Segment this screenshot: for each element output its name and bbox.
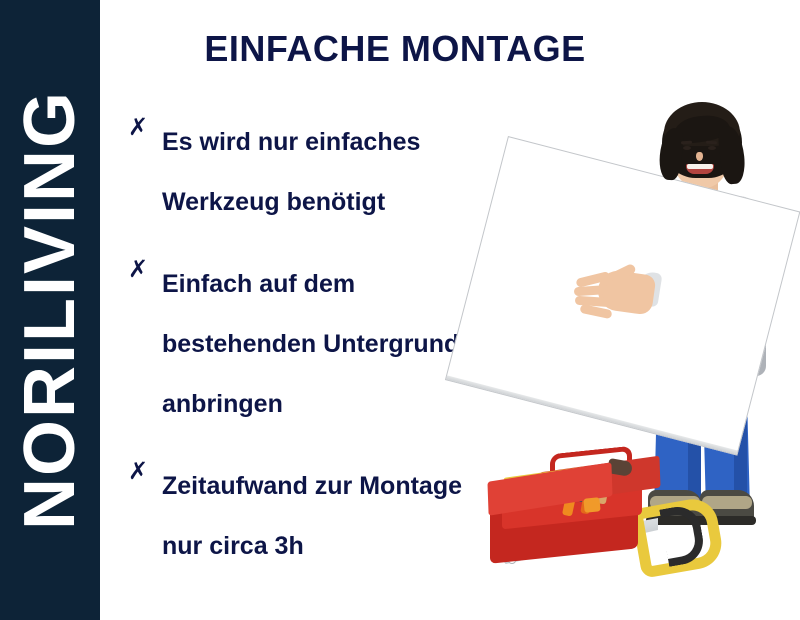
cross-mark-icon: ✗ (128, 254, 152, 284)
tool-knob (583, 497, 600, 513)
cross-mark-icon: ✗ (128, 112, 152, 142)
product-photo (470, 96, 800, 620)
brand-name: NORILIVING (14, 90, 86, 530)
brand-sidebar: NORILIVING (0, 0, 100, 620)
eye-right (708, 146, 716, 150)
nose (696, 152, 703, 161)
cross-mark-icon: ✗ (128, 456, 152, 486)
promo-banner: NORILIVING EINFACHE MONTAGE ✗ Es wird nu… (0, 0, 800, 620)
smiling-mouth (686, 164, 714, 174)
toolbox (488, 442, 678, 572)
page-title: EINFACHE MONTAGE (100, 28, 800, 70)
eye-left (683, 146, 691, 150)
